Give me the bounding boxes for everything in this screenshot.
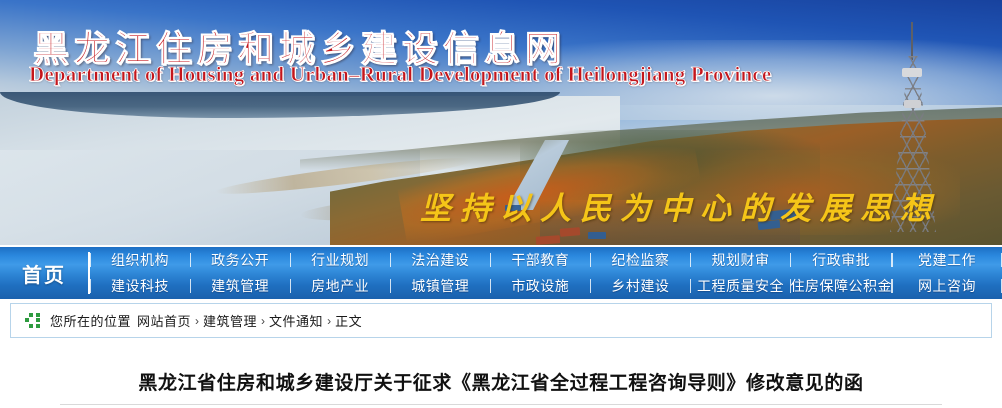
breadcrumb: 您所在的位置 网站首页 › 建筑管理 › 文件通知 › 正文	[10, 303, 992, 338]
breadcrumb-item-article: 正文	[335, 311, 362, 330]
tower-mast	[911, 22, 913, 60]
nav-item-online-consultation[interactable]: 网上咨询	[892, 273, 1002, 299]
nav-item-project-quality-safety[interactable]: 工程质量安全	[690, 273, 790, 299]
nav-item-rural-construction[interactable]: 乡村建设	[590, 273, 690, 299]
nav-item-party-building[interactable]: 党建工作	[892, 247, 1002, 273]
grid-icon	[25, 313, 40, 328]
nav-item-administrative-approval[interactable]: 行政审批	[790, 247, 892, 273]
village-roof-5	[536, 235, 560, 245]
site-banner: 黑龙江住房和城乡建设信息网 Department of Housing and …	[0, 0, 1002, 245]
breadcrumb-item-document-notice[interactable]: 文件通知	[269, 311, 323, 330]
nav-item-cadre-education[interactable]: 干部教育	[490, 247, 590, 273]
breadcrumb-item-building-management[interactable]: 建筑管理	[203, 311, 257, 330]
breadcrumb-separator-1: ›	[195, 314, 199, 328]
tower-antenna-pod-2	[904, 100, 921, 108]
breadcrumb-separator-2: ›	[261, 314, 265, 328]
banner-slogan: 坚持以人民为中心的发展思想	[420, 183, 940, 228]
village-roof-4	[588, 232, 606, 239]
page-root: 黑龙江住房和城乡建设信息网 Department of Housing and …	[0, 0, 1002, 408]
main-navigation: 首页 组织机构 政务公开 行业规划 法治建设 干部教育 纪检监察 规划财审 行政…	[0, 245, 1002, 299]
nav-item-municipal-facilities[interactable]: 市政设施	[490, 273, 590, 299]
nav-items-grid: 组织机构 政务公开 行业规划 法治建设 干部教育 纪检监察 规划财审 行政审批 …	[90, 247, 892, 299]
nav-item-urban-management[interactable]: 城镇管理	[390, 273, 490, 299]
nav-item-rule-of-law[interactable]: 法治建设	[390, 247, 490, 273]
nav-item-government-affairs[interactable]: 政务公开	[190, 247, 290, 273]
tower-antenna-pod-1	[902, 68, 922, 77]
breadcrumb-prefix: 您所在的位置	[50, 311, 131, 330]
nav-item-home[interactable]: 首页	[0, 247, 88, 299]
nav-item-planning-audit[interactable]: 规划财审	[690, 247, 790, 273]
nav-item-organization[interactable]: 组织机构	[90, 247, 190, 273]
nav-items-grid-tail: 党建工作 网上咨询	[892, 247, 1002, 299]
title-separator-rule	[60, 404, 942, 405]
breadcrumb-separator-3: ›	[327, 314, 331, 328]
nav-item-real-estate[interactable]: 房地产业	[290, 273, 390, 299]
breadcrumb-item-home[interactable]: 网站首页	[137, 311, 191, 330]
nav-item-industry-planning[interactable]: 行业规划	[290, 247, 390, 273]
nav-item-building-management[interactable]: 建筑管理	[190, 273, 290, 299]
site-subtitle-english: Department of Housing and Urban–Rural De…	[29, 62, 771, 87]
nav-item-discipline-inspection[interactable]: 纪检监察	[590, 247, 690, 273]
article-title: 黑龙江省住房和城乡建设厅关于征求《黑龙江省全过程工程咨询导则》修改意见的函	[0, 368, 1002, 395]
nav-item-housing-fund[interactable]: 住房保障公积金	[790, 273, 892, 299]
nav-item-construction-technology[interactable]: 建设科技	[90, 273, 190, 299]
